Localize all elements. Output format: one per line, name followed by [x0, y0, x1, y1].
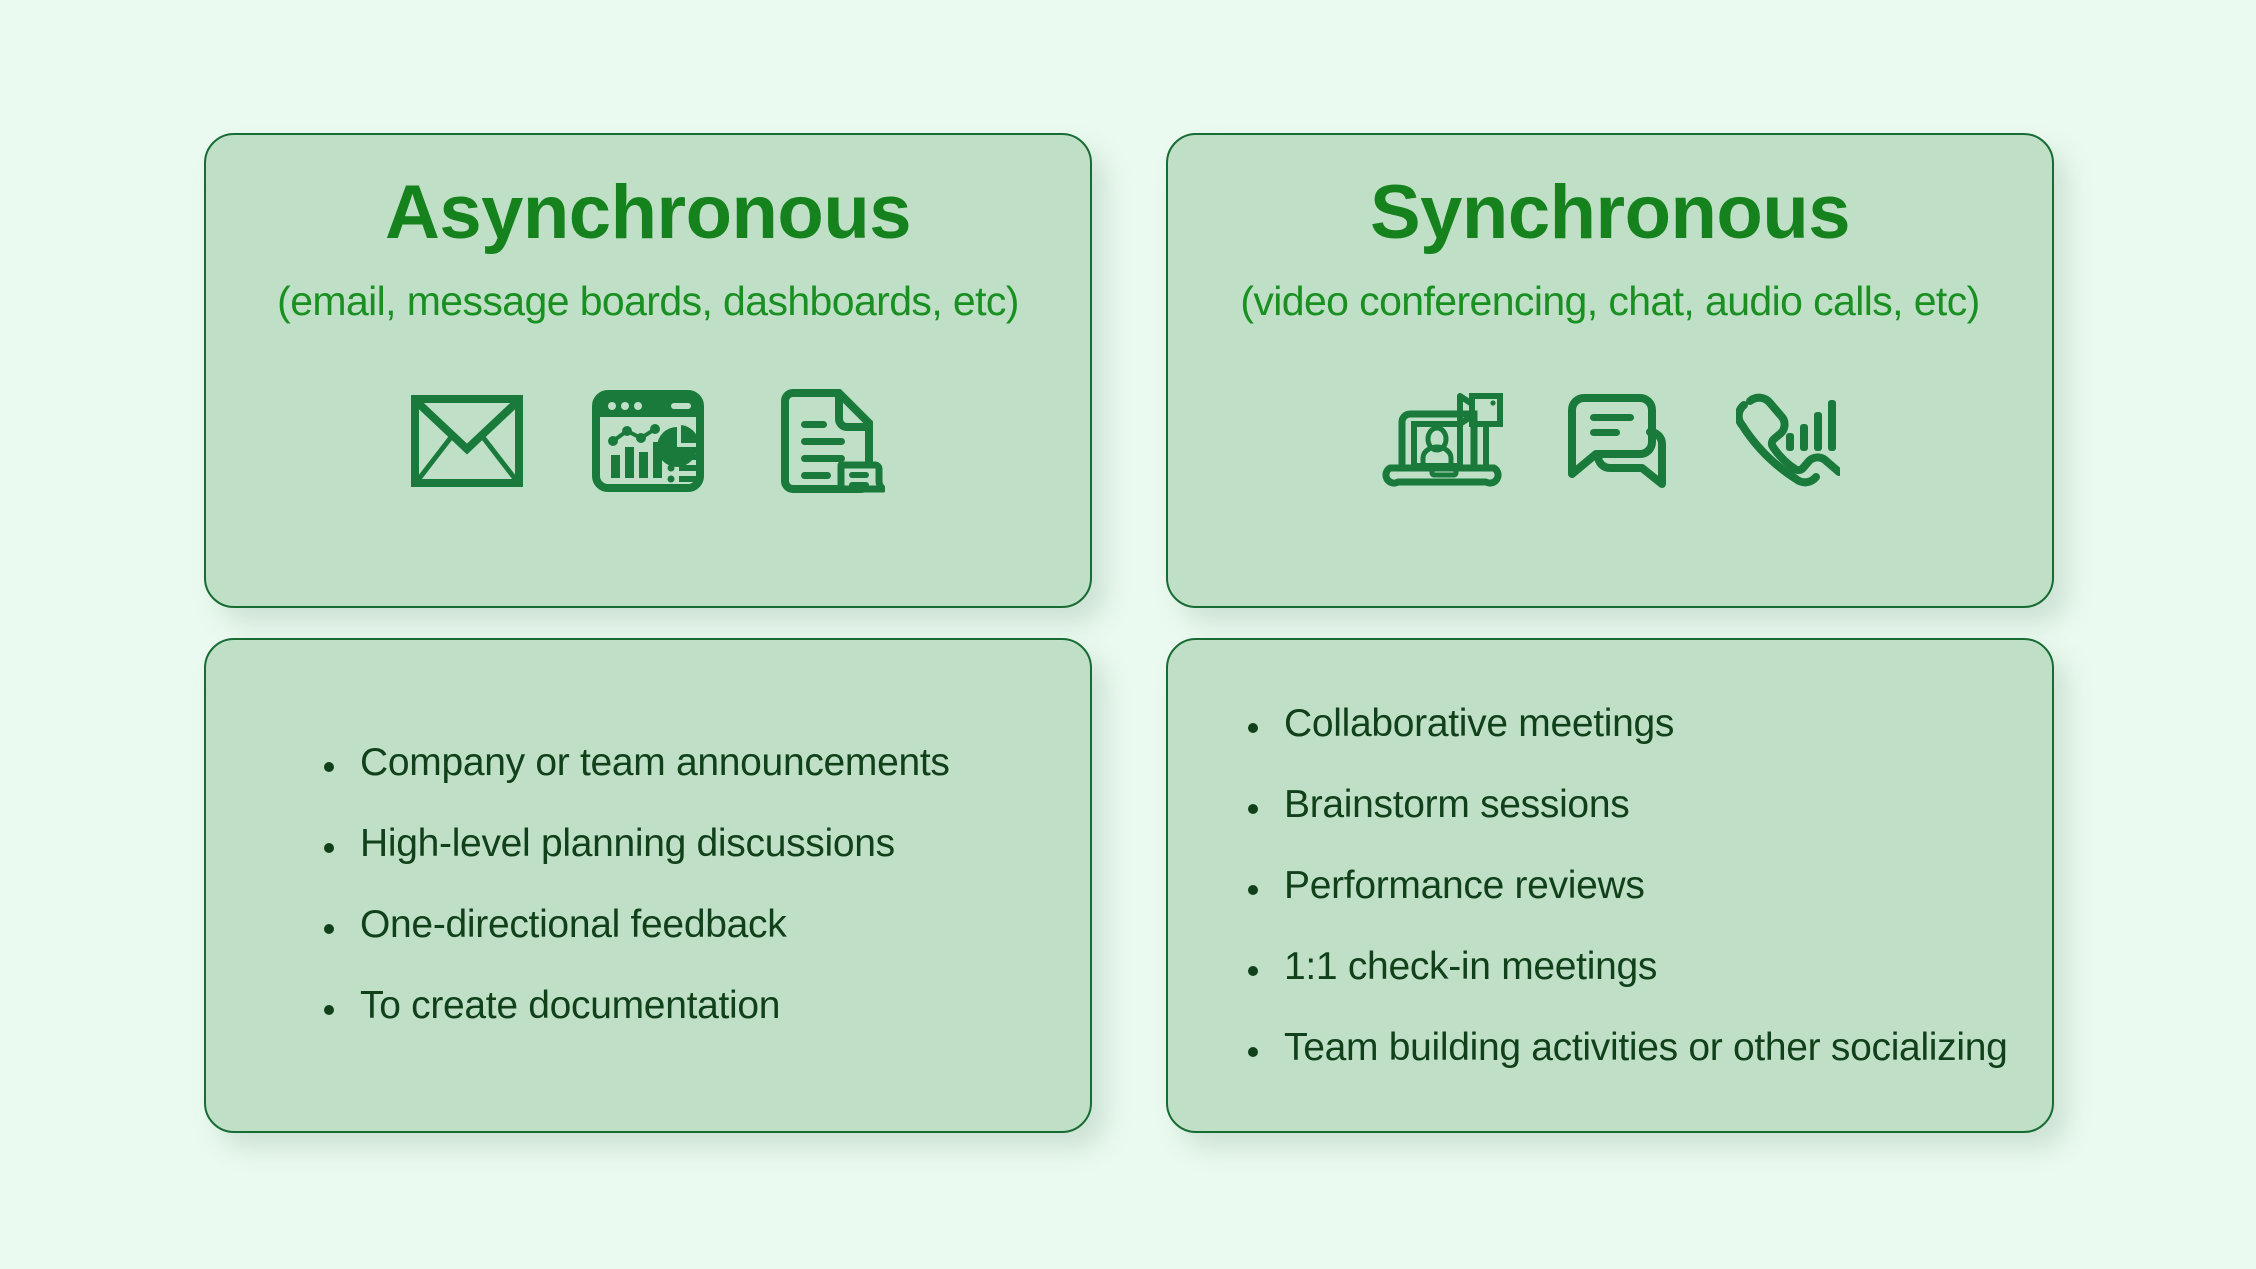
- synchronous-icon-row: [1168, 387, 2052, 493]
- asynchronous-header-text: Asynchronous (email, message boards, das…: [206, 173, 1090, 324]
- list-item: One-directional feedback: [316, 904, 950, 946]
- chat-bubbles-icon: [1564, 390, 1676, 490]
- dashboard-chart-icon: [591, 389, 705, 493]
- list-item: To create documentation: [316, 985, 950, 1027]
- video-conference-icon: [1380, 388, 1504, 492]
- phone-call-icon: [1736, 387, 1840, 493]
- synchronous-header-card: Synchronous (video conferencing, chat, a…: [1166, 133, 2054, 608]
- list-item: Company or team announcements: [316, 742, 950, 784]
- envelope-icon: [411, 395, 523, 487]
- list-item: Performance reviews: [1240, 865, 2008, 907]
- list-item: High-level planning discussions: [316, 823, 950, 865]
- list-item: Team building activities or other social…: [1240, 1027, 2008, 1069]
- list-item: Collaborative meetings: [1240, 703, 2008, 745]
- synchronous-bullet-list: Collaborative meetings Brainstorm sessio…: [1240, 703, 2008, 1109]
- synchronous-subtitle: (video conferencing, chat, audio calls, …: [1168, 279, 2052, 324]
- list-item: Brainstorm sessions: [1240, 784, 2008, 826]
- asynchronous-title: Asynchronous: [206, 173, 1090, 253]
- asynchronous-subtitle: (email, message boards, dashboards, etc): [206, 279, 1090, 324]
- synchronous-title: Synchronous: [1168, 173, 2052, 253]
- comparison-board: Asynchronous (email, message boards, das…: [0, 0, 2256, 1269]
- synchronous-header-text: Synchronous (video conferencing, chat, a…: [1168, 173, 2052, 324]
- asynchronous-header-card: Asynchronous (email, message boards, das…: [204, 133, 1092, 608]
- document-icon: [773, 387, 885, 495]
- asynchronous-icon-row: [206, 387, 1090, 495]
- list-item: 1:1 check-in meetings: [1240, 946, 2008, 988]
- asynchronous-bullet-list: Company or team announcements High-level…: [316, 742, 950, 1066]
